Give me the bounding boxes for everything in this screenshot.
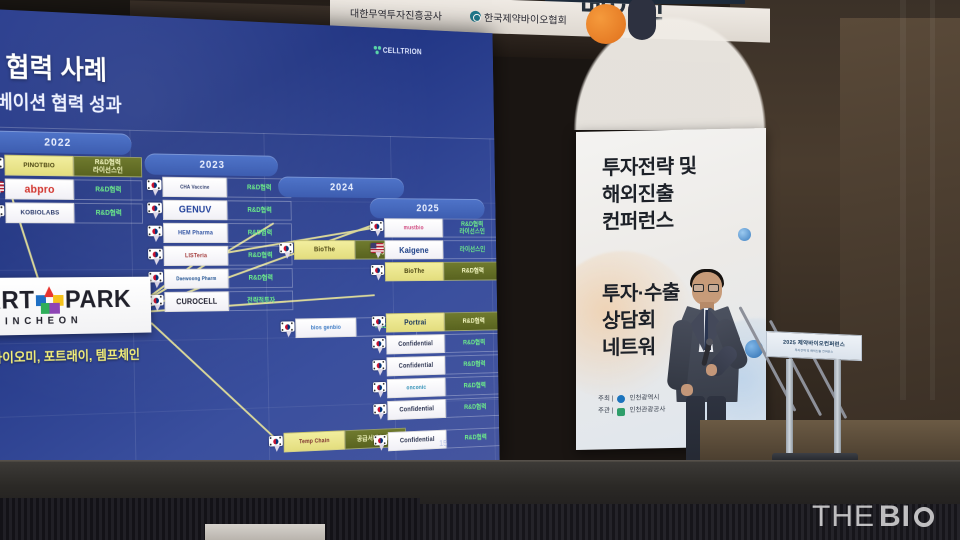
flag-badge bbox=[281, 319, 296, 339]
flag-badge bbox=[147, 200, 163, 220]
flag-kr-icon bbox=[148, 226, 163, 237]
company-logo: Confidential bbox=[388, 430, 447, 452]
decor-blue-sphere-small bbox=[738, 228, 751, 241]
flag-tail bbox=[0, 215, 2, 222]
speaker-hand-right bbox=[706, 364, 717, 376]
flag-badge bbox=[370, 240, 384, 259]
company-logo: CUROCELL bbox=[164, 291, 229, 312]
incheon-tourism-logo-icon bbox=[617, 407, 625, 415]
decor-orange-sphere bbox=[586, 4, 626, 44]
podium-sign-line2: 투자전략 및 해외진출 컨퍼런스 bbox=[795, 348, 833, 354]
deal-badge: R&D협력 bbox=[445, 376, 500, 397]
deal-line: 전략적투자 bbox=[247, 297, 275, 304]
entry-row[interactable]: abpro R&D협력 bbox=[0, 178, 143, 200]
company-logo: LISTeria bbox=[163, 246, 228, 266]
company-logo: Confidential bbox=[386, 356, 445, 377]
year-pill-2023: 2023 bbox=[145, 153, 279, 176]
company-logo: HEM Pharma bbox=[163, 223, 228, 243]
deal-badge: R&D협력 라이선스인 bbox=[73, 156, 142, 178]
flag-kr-icon bbox=[147, 179, 162, 190]
flag-tail bbox=[376, 274, 382, 280]
deal-badge: R&D협력 bbox=[74, 203, 143, 224]
deal-badge: R&D협력 bbox=[443, 262, 499, 281]
flag-kr-icon bbox=[371, 265, 384, 275]
deal-line: R&D협력 bbox=[95, 186, 121, 193]
flag-badge bbox=[373, 379, 387, 399]
deal-badge: R&D협력 bbox=[228, 268, 293, 288]
startup-park-city: INCHEON bbox=[5, 315, 83, 327]
flag-tail bbox=[155, 304, 161, 311]
flag-badge bbox=[149, 292, 165, 312]
deal-line: R&D협력 bbox=[463, 318, 485, 325]
flag-tail bbox=[153, 212, 159, 219]
flag-badge bbox=[371, 262, 385, 281]
podium-sign-line1: 2025 제약바이오컨퍼런스 bbox=[783, 338, 845, 349]
company-logo: BioThe bbox=[385, 262, 444, 281]
deal-badge: 전략적투자 bbox=[229, 291, 294, 312]
speaker-glasses-icon bbox=[693, 284, 721, 292]
entry-row[interactable]: Daewoong Pharm R&D협력 bbox=[148, 268, 292, 289]
flag-badge bbox=[0, 202, 6, 223]
flag-kr-icon bbox=[372, 316, 385, 326]
company-logo: Daewoong Pharm bbox=[164, 269, 229, 290]
entry-row[interactable]: HEM Pharma R&D협력 bbox=[148, 223, 293, 243]
podium-post-left bbox=[786, 359, 793, 459]
company-logo: Portrai bbox=[386, 312, 445, 332]
flag-kr-icon bbox=[269, 436, 283, 447]
projection-screen-wrapper: 베이션 협력 사례 오픈 이노베이션 협력 성과 CELLTRION bbox=[0, 8, 500, 494]
conference-photo-scene: 베이션 대한무역투자진흥공사 한국제약바이오협회 베이션 협력 사례 오픈 이노… bbox=[0, 0, 960, 540]
flag-badge bbox=[372, 357, 386, 377]
flag-badge bbox=[279, 240, 294, 260]
flag-kr-icon bbox=[373, 404, 386, 415]
deal-badge: R&D협력 bbox=[446, 397, 500, 418]
flag-kr-icon bbox=[148, 249, 163, 260]
entry-row[interactable]: BioThe R&D협력 bbox=[371, 262, 500, 282]
banner-host-name: 인천광역시 bbox=[629, 392, 659, 405]
banner-organizer-label: 주관 | bbox=[598, 406, 613, 419]
deal-badge: 라이선스인 bbox=[443, 240, 500, 259]
flag-tail bbox=[274, 445, 280, 452]
banner-title-line2: 해외진출 bbox=[602, 180, 697, 209]
entry-row[interactable]: CUROCELL 전략적투자 bbox=[149, 291, 293, 313]
entry-row[interactable]: Kaigene 라이선스인 bbox=[370, 240, 499, 259]
deal-line: R&D협력 bbox=[248, 252, 273, 259]
year-pill-2022: 2022 bbox=[0, 130, 132, 155]
company-logo: Confidential bbox=[387, 399, 446, 420]
decor-dark-pill bbox=[628, 0, 656, 40]
flag-badge bbox=[148, 269, 164, 289]
company-logo: bios genbio bbox=[295, 318, 356, 339]
startup-park-mark-icon bbox=[35, 286, 64, 314]
deal-badge: R&D협력 bbox=[74, 179, 143, 200]
slide-page-number: 15 bbox=[439, 439, 447, 448]
flag-tail bbox=[286, 331, 292, 338]
deal-badge: R&D협력 bbox=[444, 311, 500, 331]
flag-us-icon bbox=[370, 243, 383, 253]
flag-tail bbox=[153, 235, 159, 242]
flag-kr-icon bbox=[373, 382, 386, 392]
podium-post-right bbox=[834, 359, 841, 459]
deal-line: R&D협력 bbox=[463, 339, 485, 346]
company-logo: CHA Vaccine bbox=[162, 177, 227, 198]
entry-row[interactable]: mustbio R&D협력 라이선스인 bbox=[370, 218, 500, 237]
deal-line: R&D협력 bbox=[462, 268, 484, 275]
kpbma-mark-icon bbox=[470, 11, 481, 22]
startup-park-word2: PARK bbox=[65, 285, 132, 314]
flag-badge bbox=[372, 335, 386, 355]
flag-badge bbox=[147, 177, 163, 197]
flag-badge bbox=[148, 246, 164, 266]
top-banner-org-right: 한국제약바이오협회 bbox=[484, 9, 567, 27]
flag-tail bbox=[379, 444, 385, 451]
flag-tail bbox=[375, 230, 381, 236]
flag-us-icon bbox=[0, 181, 4, 192]
flag-kr-icon bbox=[279, 243, 293, 253]
deal-line: R&D협력 bbox=[464, 404, 486, 411]
flag-kr-icon bbox=[374, 435, 387, 446]
company-logo: KOBIOLABS bbox=[5, 202, 74, 223]
entry-row[interactable]: LISTeria R&D협력 bbox=[148, 246, 293, 266]
company-logo: Confidential bbox=[386, 334, 445, 354]
flag-kr-icon bbox=[281, 321, 295, 332]
deal-line: R&D협력 bbox=[247, 207, 272, 214]
top-banner-org-left: 대한무역투자진흥공사 bbox=[350, 5, 442, 23]
deal-line: R&D협력 bbox=[96, 210, 122, 217]
flag-badge bbox=[0, 178, 5, 199]
flag-kr-icon bbox=[0, 157, 4, 168]
company-logo: PINOTBIO bbox=[4, 155, 73, 177]
entry-row[interactable]: PINOTBIO R&D협력 라이선스인 bbox=[0, 154, 142, 177]
deal-line: 라이선스인 bbox=[459, 228, 485, 235]
startup-park-card: START PARK INCHEON bbox=[0, 277, 151, 337]
flag-badge bbox=[0, 154, 5, 175]
watermark: THE BI bbox=[812, 500, 934, 534]
entry-row[interactable]: Portrai R&D협력 bbox=[372, 311, 500, 332]
banner-organizer-row: 주관 | 인천관광공사 bbox=[598, 404, 665, 418]
deal-line: R&D협력 bbox=[249, 275, 273, 282]
flag-kr-icon bbox=[372, 338, 385, 348]
flag-tail bbox=[376, 252, 382, 258]
deal-badge: R&D협력 라이선스인 bbox=[443, 219, 500, 238]
flag-tail bbox=[378, 413, 384, 420]
year-pill-2024: 2024 bbox=[278, 176, 404, 198]
flag-tail bbox=[285, 252, 291, 259]
flag-tail bbox=[378, 369, 384, 376]
banner-footer: 주최 | 인천광역시 주관 | 인천관광공사 bbox=[598, 392, 665, 418]
incheon-city-logo-icon bbox=[617, 395, 625, 403]
banner-title-line1: 투자전략 및 bbox=[602, 153, 697, 182]
podium: 2025 제약바이오컨퍼런스 투자전략 및 해외진출 컨퍼런스 bbox=[766, 333, 862, 463]
company-logo: Kaigene bbox=[384, 240, 443, 259]
flag-tail bbox=[152, 189, 158, 196]
flag-badge bbox=[269, 433, 284, 453]
year-pill-2025: 2025 bbox=[370, 198, 485, 219]
deal-badge: R&D협력 bbox=[227, 200, 292, 220]
projection-screen: 베이션 협력 사례 오픈 이노베이션 협력 성과 CELLTRION bbox=[0, 8, 500, 494]
deal-line: 라이선스인 bbox=[460, 246, 486, 253]
deal-line: R&D협력 bbox=[248, 230, 273, 237]
startup-park-wordmark: START PARK bbox=[0, 285, 131, 316]
watermark-bold: BI bbox=[879, 500, 911, 534]
flag-badge bbox=[373, 401, 387, 421]
flag-tail bbox=[377, 325, 383, 332]
company-logo: abpro bbox=[5, 178, 74, 199]
speaker-hand-left bbox=[681, 384, 693, 396]
entry-row[interactable]: Confidential R&D협력 bbox=[372, 354, 499, 377]
flag-kr-icon bbox=[0, 205, 4, 216]
podium-sign: 2025 제약바이오컨퍼런스 투자전략 및 해외진출 컨퍼런스 bbox=[766, 331, 862, 361]
deal-line: R&D협력 bbox=[464, 382, 486, 389]
flag-kr-icon bbox=[373, 360, 386, 370]
deal-line: R&D협력 bbox=[247, 184, 272, 191]
company-logo: mustbio bbox=[384, 218, 443, 237]
flag-tail bbox=[154, 258, 160, 265]
company-logo: BioThe bbox=[294, 240, 355, 260]
flag-tail bbox=[377, 347, 383, 354]
flag-kr-icon bbox=[149, 295, 164, 306]
flag-badge bbox=[370, 218, 384, 237]
deal-badge: R&D협력 bbox=[446, 427, 500, 448]
entry-row[interactable]: GENUV R&D협력 bbox=[147, 200, 292, 221]
company-logo: onconic bbox=[387, 377, 446, 398]
flag-kr-icon bbox=[147, 203, 162, 214]
flag-kr-icon bbox=[148, 272, 163, 283]
flag-kr-icon bbox=[370, 221, 383, 231]
entry-row[interactable]: Confidential R&D협력 bbox=[372, 333, 500, 355]
company-logo: GENUV bbox=[163, 200, 228, 220]
flag-badge bbox=[148, 223, 164, 243]
deal-badge: R&D협력 bbox=[445, 333, 500, 353]
entry-row[interactable]: KOBIOLABS R&D협력 bbox=[0, 202, 143, 224]
flag-tail bbox=[154, 281, 160, 288]
deal-line: 라이선스인 bbox=[93, 166, 123, 174]
deal-line: R&D협력 bbox=[465, 434, 487, 441]
flag-badge bbox=[374, 432, 388, 452]
watermark-light: THE bbox=[812, 500, 875, 534]
company-logo: Temp Chain bbox=[283, 430, 344, 452]
deal-line: R&D협력 bbox=[463, 361, 485, 368]
banner-title: 투자전략 및 해외진출 컨퍼런스 bbox=[602, 153, 697, 235]
flag-badge bbox=[372, 313, 386, 332]
flag-tail bbox=[378, 391, 384, 398]
watermark-o-icon bbox=[914, 507, 934, 527]
kpbma-logo: 한국제약바이오협회 bbox=[470, 9, 567, 27]
banner-host-label: 주최 | bbox=[598, 393, 613, 406]
entry-row[interactable]: CHA Vaccine R&D협력 bbox=[147, 177, 292, 199]
banner-title-line3: 컨퍼런스 bbox=[602, 207, 697, 236]
stage-front-panel bbox=[205, 524, 325, 540]
deal-badge: R&D협력 bbox=[445, 354, 500, 374]
startup-park-word1: START bbox=[0, 286, 35, 316]
